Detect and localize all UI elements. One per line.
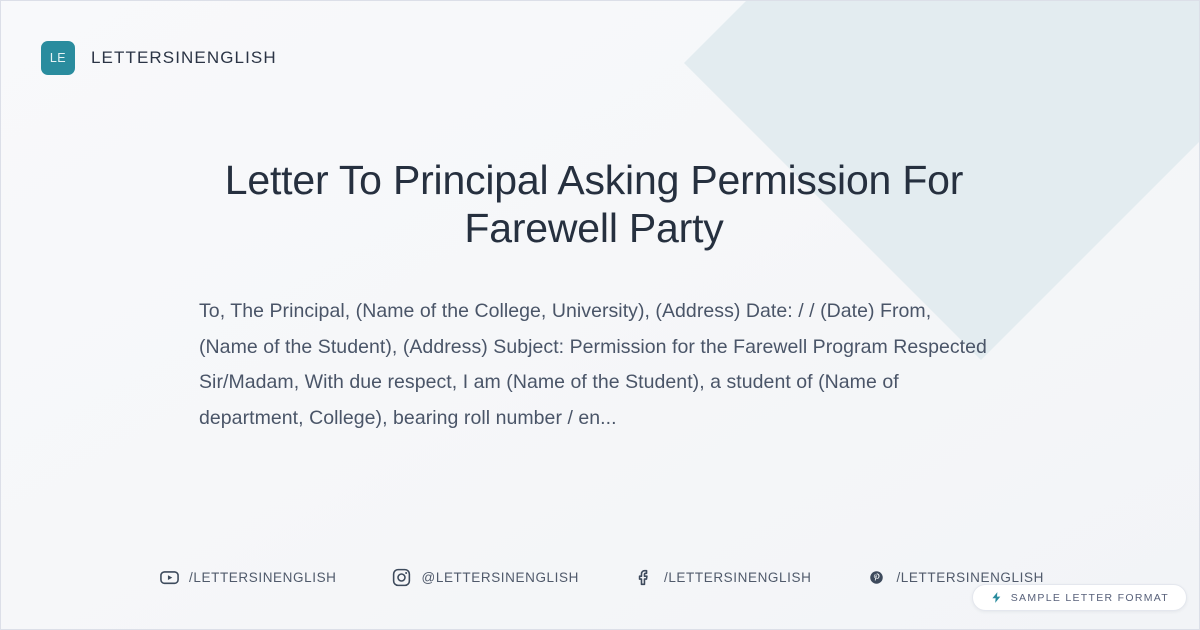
brand-logo[interactable]: LE LETTERSINENGLISH bbox=[41, 41, 277, 75]
social-link-facebook[interactable]: /LETTERSINENGLISH bbox=[633, 566, 811, 588]
pinterest-icon bbox=[865, 566, 887, 588]
social-link-instagram[interactable]: @LETTERSINENGLISH bbox=[391, 566, 579, 588]
article-excerpt: To, The Principal, (Name of the College,… bbox=[199, 294, 989, 436]
social-label-facebook: /LETTERSINENGLISH bbox=[664, 570, 811, 585]
badge-label: SAMPLE LETTER FORMAT bbox=[1011, 592, 1169, 604]
social-label-instagram: @LETTERSINENGLISH bbox=[422, 570, 579, 585]
youtube-icon bbox=[158, 566, 180, 588]
page-title: Letter To Principal Asking Permission Fo… bbox=[199, 156, 989, 252]
brand-name: LETTERSINENGLISH bbox=[91, 48, 277, 68]
share-card: LE LETTERSINENGLISH Letter To Principal … bbox=[0, 0, 1200, 630]
instagram-icon bbox=[391, 566, 413, 588]
main-content: Letter To Principal Asking Permission Fo… bbox=[199, 156, 989, 436]
facebook-icon bbox=[633, 566, 655, 588]
social-label-pinterest: /LETTERSINENGLISH bbox=[896, 570, 1043, 585]
social-link-youtube[interactable]: /LETTERSINENGLISH bbox=[158, 566, 336, 588]
social-label-youtube: /LETTERSINENGLISH bbox=[189, 570, 336, 585]
brand-badge-icon: LE bbox=[41, 41, 75, 75]
lightning-bolt-icon bbox=[990, 591, 1003, 604]
sample-letter-format-badge[interactable]: SAMPLE LETTER FORMAT bbox=[972, 584, 1187, 611]
